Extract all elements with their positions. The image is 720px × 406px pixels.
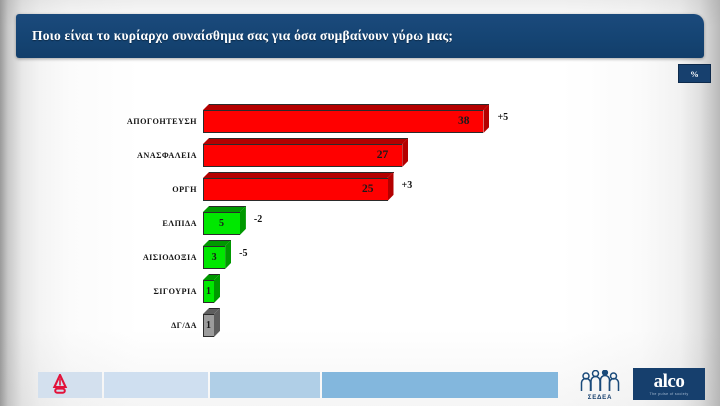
bar-value-label: 1 [206,314,211,337]
bar-top-edge [209,274,220,275]
slide-title-bar: Ποιο είναι το κυρίαρχο συναίσθημα σας γι… [16,14,704,58]
bar-front-face [203,178,388,201]
page-title: Ποιο είναι το κυρίαρχο συναίσθημα σας γι… [32,28,453,44]
bar-row: ΑΙΣΙΟΔΟΞΙΑ3-5 [0,240,720,274]
bar-ΑΝΑΣΦΑΛΕΙΑ: 27 [203,138,402,161]
bar-category-label: ΑΠΟΓΟΗΤΕΥΣΗ [47,117,197,126]
bar-value-label: 25 [362,178,374,201]
footer-block-2 [104,372,208,398]
bar-top-edge [209,104,489,105]
bar-category-label: ΣΙΓΟΥΡΙΑ [47,287,197,296]
bar-value-label: 38 [458,110,470,133]
bar-row: ΑΠΟΓΟΗΤΕΥΣΗ38+5 [0,104,720,138]
sedea-label: ΣΕΔΕΑ [588,394,612,401]
bar-delta-label: -5 [239,248,247,259]
bar-top-edge [209,240,231,241]
bar-front-face [203,144,402,167]
bar-ΑΙΣΙΟΔΟΞΙΑ: 3 [203,240,225,263]
bar-ΟΡΓΗ: 25 [203,172,388,195]
bar-delta-label: -2 [254,214,262,225]
bar-category-label: ΑΝΑΣΦΑΛΕΙΑ [47,151,197,160]
bar-ΣΙΓΟΥΡΙΑ: 1 [203,274,214,297]
bar-row: ΔΓ/ΔΑ1 [0,308,720,342]
bar-row: ΟΡΓΗ25+3 [0,172,720,206]
footer-block-3 [210,372,320,398]
footer-block-1 [38,372,102,398]
bar-ΑΠΟΓΟΗΤΕΥΣΗ: 38 [203,104,483,127]
alco-tagline: The pulse of society [650,393,689,397]
bar-row: ΑΝΑΣΦΑΛΕΙΑ27 [0,138,720,172]
people-group-icon [579,370,621,393]
bar-value-label: 27 [377,144,389,167]
presentation-slide: Ποιο είναι το κυρίαρχο συναίσθημα σας γι… [0,0,720,406]
bar-row: ΣΙΓΟΥΡΙΑ1 [0,274,720,308]
bar-top-edge [209,172,394,173]
sedea-logo: ΣΕΔΕΑ [572,367,628,401]
bar-top-edge [209,138,408,139]
bar-front-face [203,110,483,133]
bar-ΕΛΠΙΔΑ: 5 [203,206,240,229]
bar-value-label: 5 [219,212,224,235]
bar-value-label: 3 [212,246,217,269]
bar-category-label: ΑΙΣΙΟΔΟΞΙΑ [47,253,197,262]
alco-wordmark: alco [654,372,685,391]
bar-value-label: 1 [206,280,211,303]
bar-row: ΕΛΠΙΔΑ5-2 [0,206,720,240]
bar-ΔΓ/ΔΑ: 1 [203,308,214,331]
bar-category-label: ΕΛΠΙΔΑ [47,219,197,228]
bar-top-edge [209,206,246,207]
unit-badge: % [678,64,711,83]
slide-footer: ΣΕΔΕΑ alco The pulse of society [0,360,720,406]
bar-category-label: ΟΡΓΗ [47,185,197,194]
bar-top-edge [209,308,220,309]
bar-chart-plot: ΑΠΟΓΟΗΤΕΥΣΗ38+5ΑΝΑΣΦΑΛΕΙΑ27ΟΡΓΗ25+3ΕΛΠΙΔ… [0,96,720,346]
alco-logo: alco The pulse of society [633,368,705,400]
red-brand-mark-icon [52,374,68,395]
bar-delta-label: +3 [402,180,413,191]
bar-delta-label: +5 [497,112,508,123]
footer-block-4 [322,372,558,398]
bar-category-label: ΔΓ/ΔΑ [47,321,197,330]
